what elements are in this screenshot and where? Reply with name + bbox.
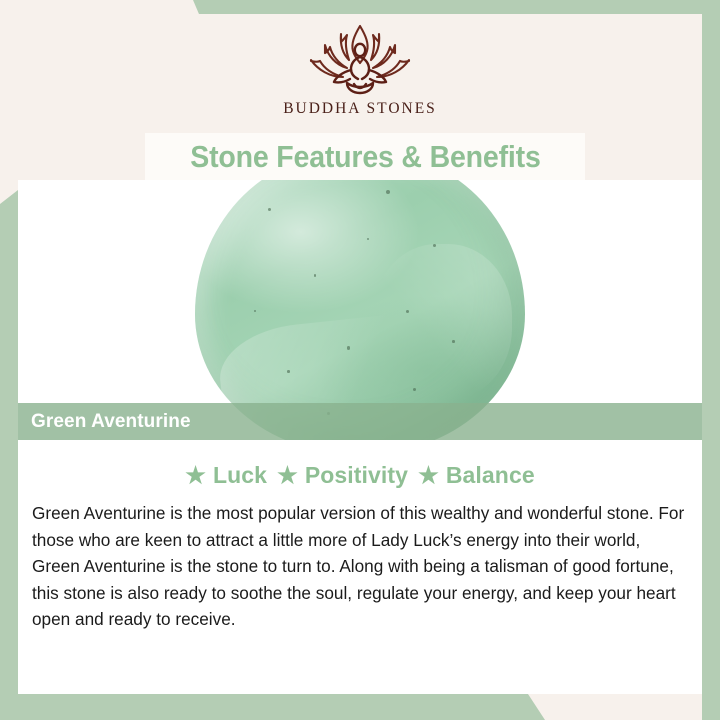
stone-facet-highlight-secondary <box>373 244 512 400</box>
description-panel: ★ Luck ★ Positivity ★ Balance Green Aven… <box>18 440 702 694</box>
benefit-label: Luck <box>213 462 267 489</box>
benefit-item-balance: ★ Balance <box>418 462 535 489</box>
product-image <box>18 180 702 440</box>
infographic-page: BUDDHA STONES Stone Features & Benefits … <box>0 0 720 720</box>
brand-logo: BUDDHA STONES <box>18 20 702 118</box>
benefit-item-luck: ★ Luck <box>185 462 267 489</box>
header: BUDDHA STONES Stone Features & Benefits <box>18 14 702 180</box>
description-text: Green Aventurine is the most popular ver… <box>32 500 688 633</box>
benefit-label: Balance <box>446 462 535 489</box>
benefit-label: Positivity <box>305 462 408 489</box>
star-icon: ★ <box>185 464 206 487</box>
star-icon: ★ <box>418 464 439 487</box>
section-title-banner: Stone Features & Benefits <box>145 133 585 181</box>
page-title: Stone Features & Benefits <box>190 139 540 175</box>
brand-name: BUDDHA STONES <box>283 100 437 118</box>
green-aventurine-stone-graphic <box>195 180 525 440</box>
star-icon: ★ <box>277 464 298 487</box>
benefit-item-positivity: ★ Positivity <box>277 462 408 489</box>
frame-right-band <box>702 0 720 720</box>
product-name: Green Aventurine <box>31 411 191 433</box>
benefit-keywords: ★ Luck ★ Positivity ★ Balance <box>18 462 702 489</box>
product-name-bar: Green Aventurine <box>18 403 702 440</box>
lotus-meditation-figure-icon <box>285 20 435 98</box>
frame-bottom-band <box>0 694 720 720</box>
frame-left-band <box>0 190 18 720</box>
